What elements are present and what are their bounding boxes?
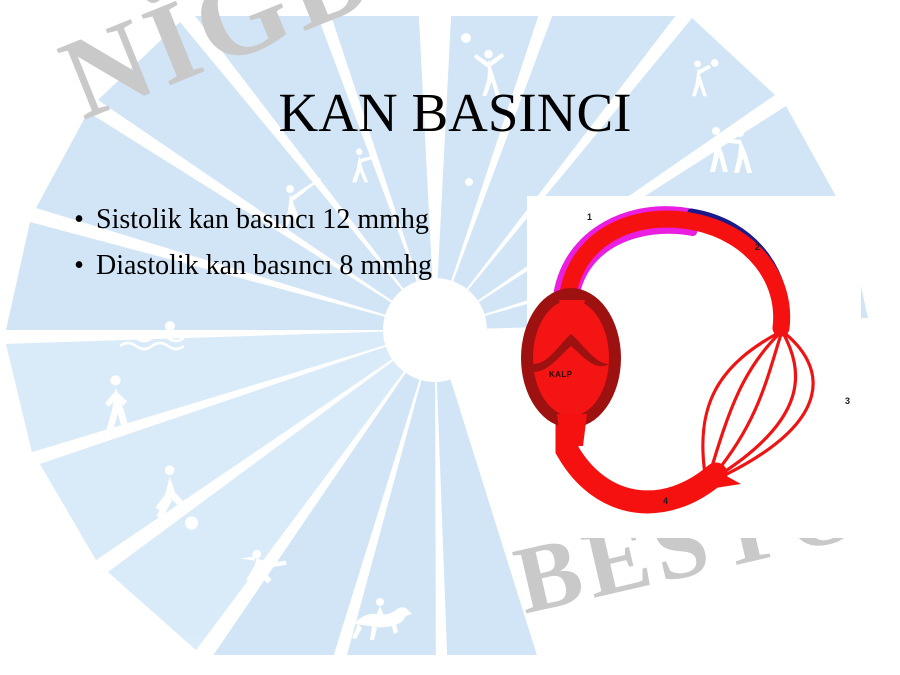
return-vessel [567,418,716,502]
slide-title: KAN BASINCI [60,84,850,142]
slide: NİĞDE BESYO KAN BASINCI • Sistolik kan b… [0,0,900,675]
list-item: • Sistolik kan basıncı 12 mmhg [62,198,482,242]
bullet-text: Sistolik kan basıncı 12 mmhg [96,198,429,242]
list-item: • Diastolik kan basıncı 8 mmhg [62,244,482,288]
diagram-label-3: 3 [845,396,850,406]
circulation-diagram-svg [505,188,865,548]
diagram-label-1: 1 [587,212,592,222]
heart-outflow-neck [559,300,585,320]
capillary-bed [703,331,813,475]
circulation-diagram-image: KALP 1 2 3 4 [527,196,861,538]
bullet-dot-icon: • [62,244,96,288]
heart-inflow-neck [557,414,587,446]
diagram-label-2: 2 [755,242,760,252]
diagram-label-4: 4 [663,496,668,506]
bullet-list: • Sistolik kan basıncı 12 mmhg • Diastol… [62,198,482,290]
heart-label: KALP [549,370,572,379]
bullet-dot-icon: • [62,198,96,242]
bullet-text: Diastolik kan basıncı 8 mmhg [96,244,432,288]
heart-graphic [521,288,621,446]
